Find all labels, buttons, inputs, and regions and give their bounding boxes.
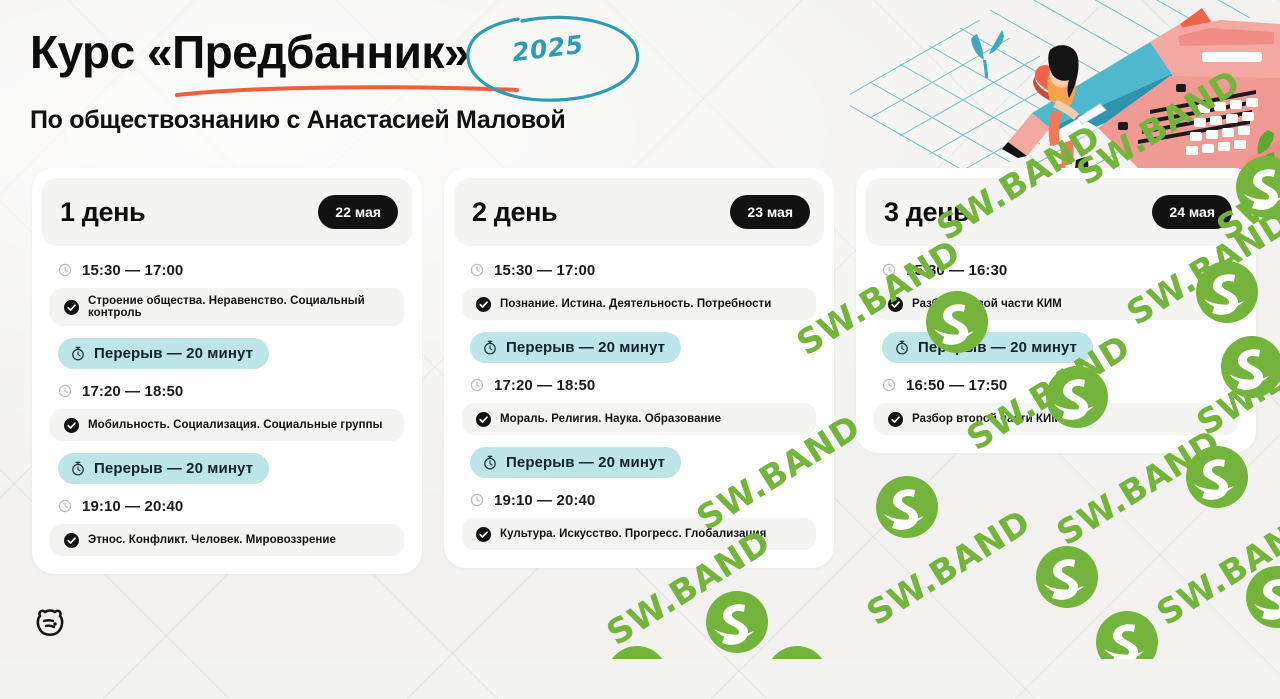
time-row: 15:30 — 16:30 (874, 252, 1238, 288)
check-icon (64, 533, 79, 548)
check-icon (476, 297, 491, 312)
lesson-row[interactable]: Познание. Истина. Деятельность. Потребно… (462, 288, 816, 320)
hero-illustration (850, 0, 1280, 175)
break-pill: Перерыв — 20 минут (58, 338, 269, 369)
illustration-svg (850, 0, 1280, 175)
lesson-title: Культура. Искусство. Прогресс. Глобализа… (500, 528, 766, 540)
clock-icon (470, 493, 484, 507)
break-label: Перерыв — 20 минут (94, 345, 253, 362)
check-icon (476, 527, 491, 542)
check-icon (476, 412, 491, 427)
time-row: 19:10 — 20:40 (462, 482, 816, 518)
clock-icon (58, 263, 72, 277)
break-label: Перерыв — 20 минут (918, 339, 1077, 356)
break-pill: Перерыв — 20 минут (470, 332, 681, 363)
lesson-row[interactable]: Мобильность. Социализация. Социальные гр… (50, 409, 404, 441)
date-badge: 24 мая (1152, 195, 1232, 229)
lesson-title: Мораль. Религия. Наука. Образование (500, 413, 721, 425)
break-label: Перерыв — 20 минут (506, 454, 665, 471)
clock-icon (58, 384, 72, 398)
time-row: 17:20 — 18:50 (462, 367, 816, 403)
clock-icon (470, 378, 484, 392)
lesson-row[interactable]: Мораль. Религия. Наука. Образование (462, 403, 816, 435)
stopwatch-icon (483, 455, 497, 470)
day-title: 1 день (60, 197, 145, 228)
time-label: 19:10 — 20:40 (494, 492, 595, 509)
time-label: 17:20 — 18:50 (494, 377, 595, 394)
day-card-body: 15:30 — 16:30Разбор первой части КИМПере… (866, 246, 1246, 435)
time-label: 17:20 — 18:50 (82, 383, 183, 400)
time-label: 19:10 — 20:40 (82, 498, 183, 515)
day-title: 3 день (884, 197, 969, 228)
stopwatch-icon (71, 461, 85, 476)
break-pill: Перерыв — 20 минут (470, 447, 681, 478)
check-icon (64, 300, 79, 315)
check-icon (888, 412, 903, 427)
break-label: Перерыв — 20 минут (506, 339, 665, 356)
lesson-title: Мобильность. Социализация. Социальные гр… (88, 419, 382, 431)
schedule-cards: 1 день22 мая15:30 — 17:00Строение общест… (0, 168, 1280, 598)
plant-sprig-icon (971, 30, 1004, 78)
clock-icon (882, 378, 896, 392)
clock-icon (882, 263, 896, 277)
lesson-row[interactable]: Разбор первой части КИМ (874, 288, 1238, 320)
lesson-title: Строение общества. Неравенство. Социальн… (88, 295, 390, 319)
lesson-row[interactable]: Этнос. Конфликт. Человек. Мировоззрение (50, 524, 404, 556)
day-card[interactable]: 1 день22 мая15:30 — 17:00Строение общест… (32, 168, 422, 574)
date-badge: 22 мая (318, 195, 398, 229)
time-label: 16:50 — 17:50 (906, 377, 1007, 394)
lesson-row[interactable]: Культура. Искусство. Прогресс. Глобализа… (462, 518, 816, 550)
time-label: 15:30 — 17:00 (494, 262, 595, 279)
time-label: 15:30 — 17:00 (82, 262, 183, 279)
lesson-row[interactable]: Строение общества. Неравенство. Социальн… (50, 288, 404, 326)
day-card-body: 15:30 — 17:00Познание. Истина. Деятельно… (454, 246, 824, 550)
year-badge: 2025 (460, 12, 650, 104)
title-row: Курс «Предбанник» 2025 (30, 22, 750, 92)
lesson-title: Познание. Истина. Деятельность. Потребно… (500, 298, 771, 310)
time-row: 19:10 — 20:40 (50, 488, 404, 524)
stopwatch-icon (71, 346, 85, 361)
bear-head-logo-icon (33, 607, 67, 641)
time-row: 15:30 — 17:00 (50, 252, 404, 288)
day-card-header: 1 день22 мая (42, 178, 412, 246)
page-header: Курс «Предбанник» 2025 По обществознанию… (30, 22, 750, 135)
time-label: 15:30 — 16:30 (906, 262, 1007, 279)
day-card[interactable]: 3 день24 мая15:30 — 16:30Разбор первой ч… (856, 168, 1256, 453)
break-pill: Перерыв — 20 минут (58, 453, 269, 484)
stopwatch-icon (895, 340, 909, 355)
date-badge: 23 мая (730, 195, 810, 229)
day-card-body: 15:30 — 17:00Строение общества. Неравенс… (42, 246, 412, 556)
day-card-header: 2 день23 мая (454, 178, 824, 246)
clock-icon (58, 499, 72, 513)
break-pill: Перерыв — 20 минут (882, 332, 1093, 363)
break-label: Перерыв — 20 минут (94, 460, 253, 477)
stopwatch-icon (483, 340, 497, 355)
day-card-header: 3 день24 мая (866, 178, 1246, 246)
day-card[interactable]: 2 день23 мая15:30 — 17:00Познание. Истин… (444, 168, 834, 568)
time-row: 15:30 — 17:00 (462, 252, 816, 288)
lesson-row[interactable]: Разбор второй части КИМ (874, 403, 1238, 435)
lesson-title: Этнос. Конфликт. Человек. Мировоззрение (88, 534, 336, 546)
time-row: 16:50 — 17:50 (874, 367, 1238, 403)
lesson-title: Разбор второй части КИМ (912, 413, 1061, 425)
check-icon (888, 297, 903, 312)
page-subtitle: По обществознанию с Анастасией Маловой (30, 106, 750, 135)
check-icon (64, 418, 79, 433)
time-row: 17:20 — 18:50 (50, 373, 404, 409)
lesson-title: Разбор первой части КИМ (912, 298, 1062, 310)
clock-icon (470, 263, 484, 277)
day-title: 2 день (472, 197, 557, 228)
